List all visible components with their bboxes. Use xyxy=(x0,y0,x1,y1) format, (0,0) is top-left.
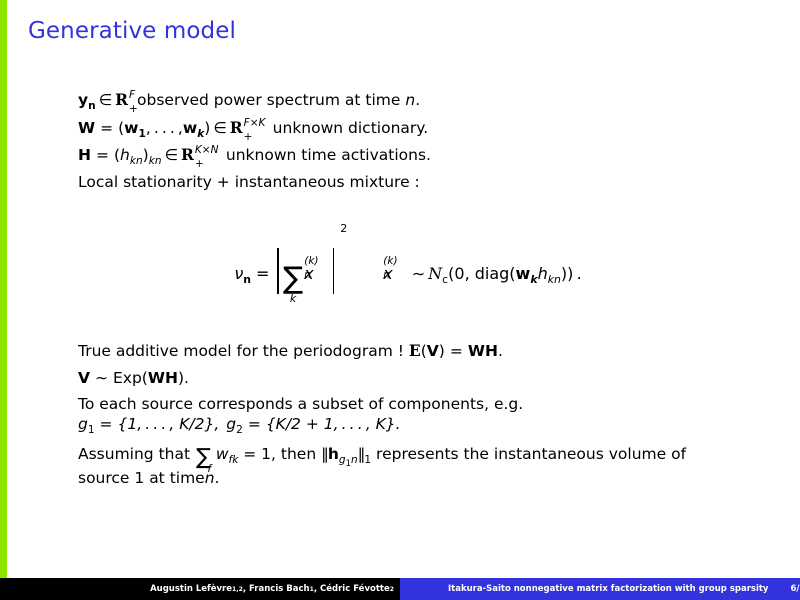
author-1-affiliation: 1,2 xyxy=(232,586,243,593)
x-superscript: (k) xyxy=(304,255,318,267)
body-line-v-exp: V∼Exp(WH). xyxy=(78,371,738,387)
author-3-affiliation: 2 xyxy=(390,586,394,593)
summation-index: f xyxy=(207,465,211,474)
display-equation: νn=∑kx(k)n2x(k)n∼Nc(0, diag(wkhkn)) . xyxy=(78,248,738,294)
symbol-w: w xyxy=(216,445,229,463)
symbol-hkn-subscript: kn xyxy=(548,273,561,286)
symbol-WH: WH xyxy=(468,342,498,360)
distributed-as-icon: ∼ xyxy=(90,369,113,387)
equals-sign: = xyxy=(445,342,468,360)
symbol-V: V xyxy=(427,342,439,360)
body-line-local-stationarity: Local stationarity + instantaneous mixtu… xyxy=(78,175,738,191)
equals-sign: = xyxy=(251,264,274,283)
symbol-y-subscript: n xyxy=(88,100,96,112)
equals-sign: = xyxy=(243,415,266,433)
ellipsis: , . . . , xyxy=(146,119,183,137)
equals-sign: = xyxy=(91,146,114,164)
body-line-1-italic-n: n xyxy=(405,91,415,109)
symbol-g2: g xyxy=(226,415,236,433)
author-2-name: , Francis Bach xyxy=(243,584,310,594)
element-of-icon: ∈ xyxy=(96,91,116,109)
symbol-x-component-2: x(k)n xyxy=(383,264,408,283)
reals-symbol: R xyxy=(115,90,128,109)
page-title: Generative model xyxy=(28,18,236,44)
assuming-text-part-1: Assuming that xyxy=(78,445,190,463)
body-line-1-text: observed power spectrum at time xyxy=(137,91,400,109)
set-2-value: {K/2 + 1, . . . , K}. xyxy=(266,415,401,433)
summation-index: k xyxy=(290,295,296,304)
symbol-w-subscript: fk xyxy=(229,454,239,466)
symbol-h-subscript: kn xyxy=(130,155,143,167)
symbol-wk: w xyxy=(516,264,531,283)
element-of-icon: ∈ xyxy=(210,119,230,137)
body-line-1-period: . xyxy=(415,91,420,109)
paren-close-subscript: kn xyxy=(149,155,162,167)
accent-bar xyxy=(0,0,7,578)
complex-normal-symbol: N xyxy=(428,264,442,283)
x2-subscript: n xyxy=(383,269,390,281)
symbol-w1-subscript: 1 xyxy=(139,128,146,140)
body-line-y-definition: yn∈RF+observed power spectrum at time n. xyxy=(78,92,738,109)
slide-footer: Augustin Lefèvre1,2, Francis Bach1, Cédr… xyxy=(0,578,800,600)
period: . xyxy=(498,342,503,360)
symbol-h-group-subscript: g1n xyxy=(339,454,358,466)
footer-paper-info: Itakura-Saito nonnegative matrix factori… xyxy=(400,578,800,600)
equals-sign: = xyxy=(95,119,118,137)
symbol-w1: w xyxy=(124,119,138,137)
symbol-hkn: h xyxy=(538,264,548,283)
absolute-value-group: ∑kx(k)n2 xyxy=(274,248,337,294)
slide-body: yn∈RF+observed power spectrum at time n.… xyxy=(78,92,738,190)
footer-authors: Augustin Lefèvre1,2, Francis Bach1, Cédr… xyxy=(0,578,400,600)
x-subscript: n xyxy=(304,269,311,281)
summation-icon: ∑k xyxy=(282,267,304,291)
body-line-w-definition: W=(w1, . . . ,wk)∈RF×K+unknown dictionar… xyxy=(78,120,738,137)
author-1-name: Augustin Lefèvre xyxy=(150,584,232,594)
symbol-WH: WH xyxy=(148,369,178,387)
slide-canvas: Generative model yn∈RF+observed power sp… xyxy=(0,0,800,600)
reals-symbol: R xyxy=(181,145,194,164)
slide-body-lower: True additive model for the periodogram … xyxy=(78,343,738,498)
summation-icon: ∑f xyxy=(195,449,212,467)
symbol-W: W xyxy=(78,119,95,137)
x2-superscript: (k) xyxy=(383,255,397,267)
symbol-nu-subscript: n xyxy=(243,273,251,286)
assuming-period: . xyxy=(215,469,220,487)
author-3-name: , Cédric Févotte xyxy=(314,584,390,594)
body-line-true-additive: True additive model for the periodogram … xyxy=(78,343,738,360)
set-1-value: {1, . . . , K/2}, xyxy=(118,415,220,433)
paren-close: ) xyxy=(439,342,445,360)
symbol-H: H xyxy=(78,146,91,164)
equation-args-close: )) . xyxy=(561,264,582,283)
body-paragraph-assuming: Assuming that ∑fwfk = 1, then ‖hg1n‖1 re… xyxy=(78,443,738,489)
symbol-y: y xyxy=(78,91,88,109)
symbol-V: V xyxy=(78,369,90,387)
assuming-text-then: then xyxy=(281,445,316,463)
equals-sign: = xyxy=(95,415,118,433)
footer-paper-title: Itakura-Saito nonnegative matrix factori… xyxy=(448,584,768,594)
symbol-g2-subscript: 2 xyxy=(236,424,243,436)
expectation-symbol: E xyxy=(409,341,421,360)
norm-bar-open: ‖ xyxy=(321,443,328,465)
symbol-wk-subscript: k xyxy=(530,273,537,286)
body-line-group-definition: g1={1, . . . , K/2},g2={K/2 + 1, . . . ,… xyxy=(78,417,738,433)
exp-function: Exp( xyxy=(113,369,148,387)
symbol-nu: ν xyxy=(234,264,243,283)
distributed-as-icon: ∼ xyxy=(409,264,428,283)
abs-bar-left xyxy=(277,248,279,294)
assuming-equals-one: = 1, xyxy=(243,445,276,463)
symbol-g1-subscript: 1 xyxy=(88,424,95,436)
symbol-wk: w xyxy=(183,119,197,137)
abs-exponent: 2 xyxy=(340,222,347,235)
body-line-3-text: unknown time activations. xyxy=(226,146,431,164)
body-line-h-definition: H=(hkn)kn∈RK×N+unknown time activations. xyxy=(78,147,738,164)
equation-args-open: (0, diag( xyxy=(448,264,515,283)
body-line-to-each-source: To each source corresponds a subset of c… xyxy=(78,397,738,413)
symbol-x-component: x(k)n xyxy=(304,264,329,283)
paren-close-period: ). xyxy=(178,369,189,387)
symbol-g1: g xyxy=(78,415,88,433)
norm-index: 1 xyxy=(364,454,371,466)
reals-symbol: R xyxy=(230,118,243,137)
element-of-icon: ∈ xyxy=(162,146,182,164)
body-line-2-text: unknown dictionary. xyxy=(273,119,428,137)
abs-bar-right xyxy=(333,248,335,294)
footer-page-number: 6/20 xyxy=(790,584,800,594)
body-line-5-text: True additive model for the periodogram … xyxy=(78,342,404,360)
symbol-h: h xyxy=(120,146,130,164)
equation-inner: νn=∑kx(k)n2x(k)n∼Nc(0, diag(wkhkn)) . xyxy=(234,248,581,294)
symbol-h-vector: h xyxy=(328,445,339,463)
